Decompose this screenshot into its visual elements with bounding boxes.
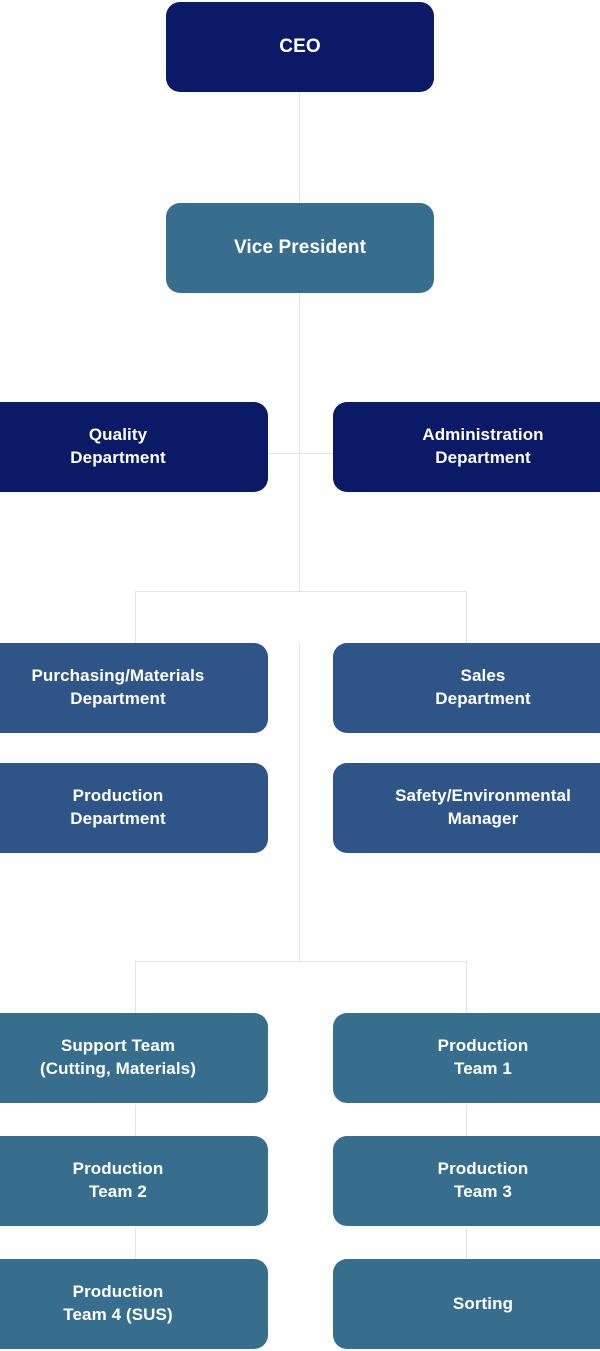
node-ceo[interactable]: CEO — [166, 2, 434, 92]
node-purchasing-materials-department[interactable]: Purchasing/Materials Department — [0, 643, 268, 733]
node-production-team-4[interactable]: Production Team 4 (SUS) — [0, 1259, 268, 1349]
connector-bracket-teams-left-drop — [135, 961, 136, 1013]
node-production-team-2[interactable]: Production Team 2 — [0, 1136, 268, 1226]
node-support-team[interactable]: Support Team (Cutting, Materials) — [0, 1013, 268, 1103]
node-production-team-1[interactable]: Production Team 1 — [333, 1013, 600, 1103]
connector-bracket-departments-left-drop — [135, 591, 136, 643]
connector-departments-to-teams-spine — [299, 643, 300, 961]
connector-bracket-teams — [135, 961, 466, 962]
node-vice-president[interactable]: Vice President — [166, 203, 434, 293]
connector-bracket-teams-right-drop — [466, 961, 467, 1013]
connector-bracket-departments — [135, 591, 466, 592]
connector-vp-to-departments — [299, 293, 300, 453]
node-administration-department[interactable]: Administration Department — [333, 402, 600, 492]
node-quality-department[interactable]: Quality Department — [0, 402, 268, 492]
connector-departments-spine — [299, 453, 300, 591]
connector-ceo-to-vp — [299, 92, 300, 206]
connector-bracket-departments-right-drop — [466, 591, 467, 643]
connector-quality-administration — [268, 453, 333, 454]
node-safety-environmental-manager[interactable]: Safety/Environmental Manager — [333, 763, 600, 853]
node-production-department[interactable]: Production Department — [0, 763, 268, 853]
node-sales-department[interactable]: Sales Department — [333, 643, 600, 733]
node-production-team-3[interactable]: Production Team 3 — [333, 1136, 600, 1226]
org-chart: CEO Vice President Quality Department Ad… — [0, 0, 600, 1351]
node-sorting[interactable]: Sorting — [333, 1259, 600, 1349]
